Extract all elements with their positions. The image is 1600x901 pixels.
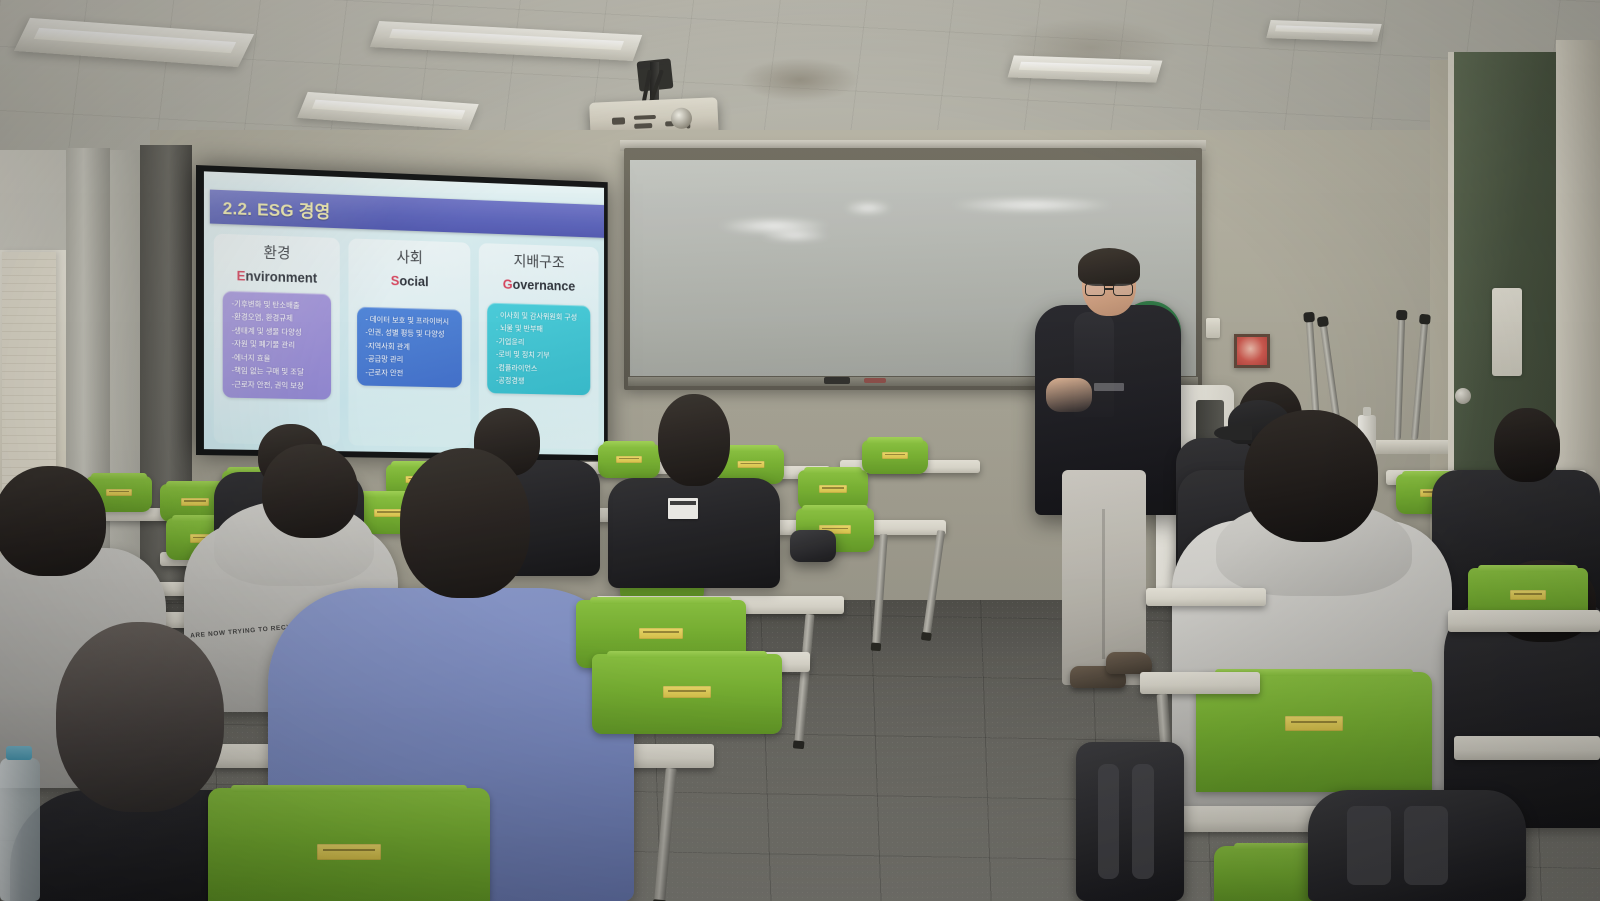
presenter-shoe [1106,652,1152,674]
list-item: -기업윤리 [496,338,585,348]
list-item: . 뇌물 및 반부패 [496,325,585,335]
whiteboard-reflection [844,202,892,214]
asset-tag [882,452,908,459]
list-item: -공정경쟁 [496,377,585,387]
slide-columns: 환경 Environment -기후변화 및 탄소배출 -환경오염, 환경규제 … [214,234,599,450]
whiteboard-eraser[interactable] [824,377,850,384]
classroom-photo: 2.2. ESG 경영 환경 Environment -기후변화 및 탄소배출 … [0,0,1600,901]
water-bottle[interactable] [0,758,40,901]
name-badge-text [670,501,696,505]
asset-tag [738,461,765,468]
backpack[interactable] [1308,790,1526,901]
student-torso [608,478,780,588]
asset-tag [1285,716,1343,731]
column-initial-letter: G [503,277,513,292]
list-item: -자원 및 폐기물 관리 [232,340,325,350]
student-head [0,466,106,576]
asset-tag [663,686,711,698]
wall-panel [1492,288,1522,376]
slide-column-social: 사회 Social - 데이터 보호 및 프라이버시 -인권, 성별 평등 및 … [348,238,470,447]
student-head [400,448,530,598]
student-desk [1140,672,1260,694]
list-item: -근로자 안전, 권익 보장 [232,381,325,391]
backpack[interactable] [790,530,836,562]
list-item: - 데이터 보호 및 프라이버시 [365,316,456,326]
list-item: -지역사회 관계 [365,342,456,352]
student-head [56,622,224,812]
stacked-desk-leg [1394,318,1405,440]
student-chair[interactable] [208,788,490,901]
list-item: . 이사회 및 감사위원회 구성 [496,312,585,322]
environment-item-box: -기후변화 및 탄소배출 -환경오염, 환경규제 -생태계 및 생물 다양성 -… [223,291,331,400]
list-item: -컴플라이언스 [496,364,585,374]
presenter-hands [1046,378,1092,412]
asset-tag [181,498,209,506]
list-item: -에너지 효율 [232,354,325,364]
student-head [262,444,358,538]
column-kr-header: 사회 [397,246,423,267]
asset-tag [616,456,642,463]
list-item: -근로자 안전 [365,369,456,379]
whiteboard-marker[interactable] [864,378,886,383]
backpack[interactable] [1076,742,1184,901]
framed-picture [1234,334,1270,368]
student-desk [1448,610,1600,632]
column-en-header: Social [391,273,429,289]
column-en-header: Governance [503,277,575,294]
asset-tag [819,485,847,493]
list-item: -생태계 및 생물 다양성 [232,327,325,337]
bottle-cap [6,746,32,760]
student-chair[interactable] [798,470,868,510]
wall-switch[interactable] [1206,318,1220,338]
whiteboard-reflection [950,198,1114,212]
glasses-icon [1085,283,1133,296]
column-en-rest: ocial [399,274,428,290]
asset-tag [639,628,683,639]
slide: 2.2. ESG 경영 환경 Environment -기후변화 및 탄소배출 … [204,171,604,455]
column-en-header: Environment [237,268,318,285]
list-item: -기후변화 및 탄소배출 [232,300,325,311]
door-knob[interactable] [1455,388,1471,404]
stacked-desk-leg [1411,322,1428,440]
list-item: -공급망 관리 [365,356,456,366]
student-desk [1454,736,1600,760]
column-initial-letter: S [391,273,400,288]
student-desk [1146,588,1266,606]
student-head [1494,408,1560,482]
list-item: -환경오염, 환경규제 [232,313,325,323]
student-head [658,394,730,486]
list-item: -로비 및 정치 기부 [496,351,585,361]
jacket-logo [1094,383,1124,391]
whiteboard-reflection [760,230,830,241]
column-kr-header: 지배구조 [513,250,564,272]
presenter-hair [1078,248,1140,286]
ceiling-stain [740,58,860,102]
student-head [1244,410,1378,542]
slide-column-environment: 환경 Environment -기후변화 및 탄소배출 -환경오염, 환경규제 … [214,234,340,446]
student-chair[interactable] [862,440,928,474]
list-item: -책임 없는 구매 및 조달 [232,367,325,377]
asset-tag [1510,590,1546,600]
list-item: -인권, 성별 평등 및 다양성 [365,329,456,339]
projection-screen: 2.2. ESG 경영 환경 Environment -기후변화 및 탄소배출 … [196,165,608,461]
column-en-rest: overnance [513,277,576,293]
slide-title: 2.2. ESG 경영 [210,194,331,223]
column-initial-letter: E [237,268,246,283]
student-chair[interactable] [598,444,660,478]
ceiling-light [1266,20,1382,42]
asset-tag [106,489,132,496]
governance-item-box: . 이사회 및 감사위원회 구성 . 뇌물 및 반부패 -기업윤리 -로비 및 … [488,303,591,396]
student-chair[interactable] [592,654,782,734]
column-kr-header: 환경 [264,241,291,263]
column-en-rest: nvironment [245,269,317,286]
asset-tag [317,844,381,860]
social-item-box: - 데이터 보호 및 프라이버시 -인권, 성별 평등 및 다양성 -지역사회 … [357,307,462,388]
